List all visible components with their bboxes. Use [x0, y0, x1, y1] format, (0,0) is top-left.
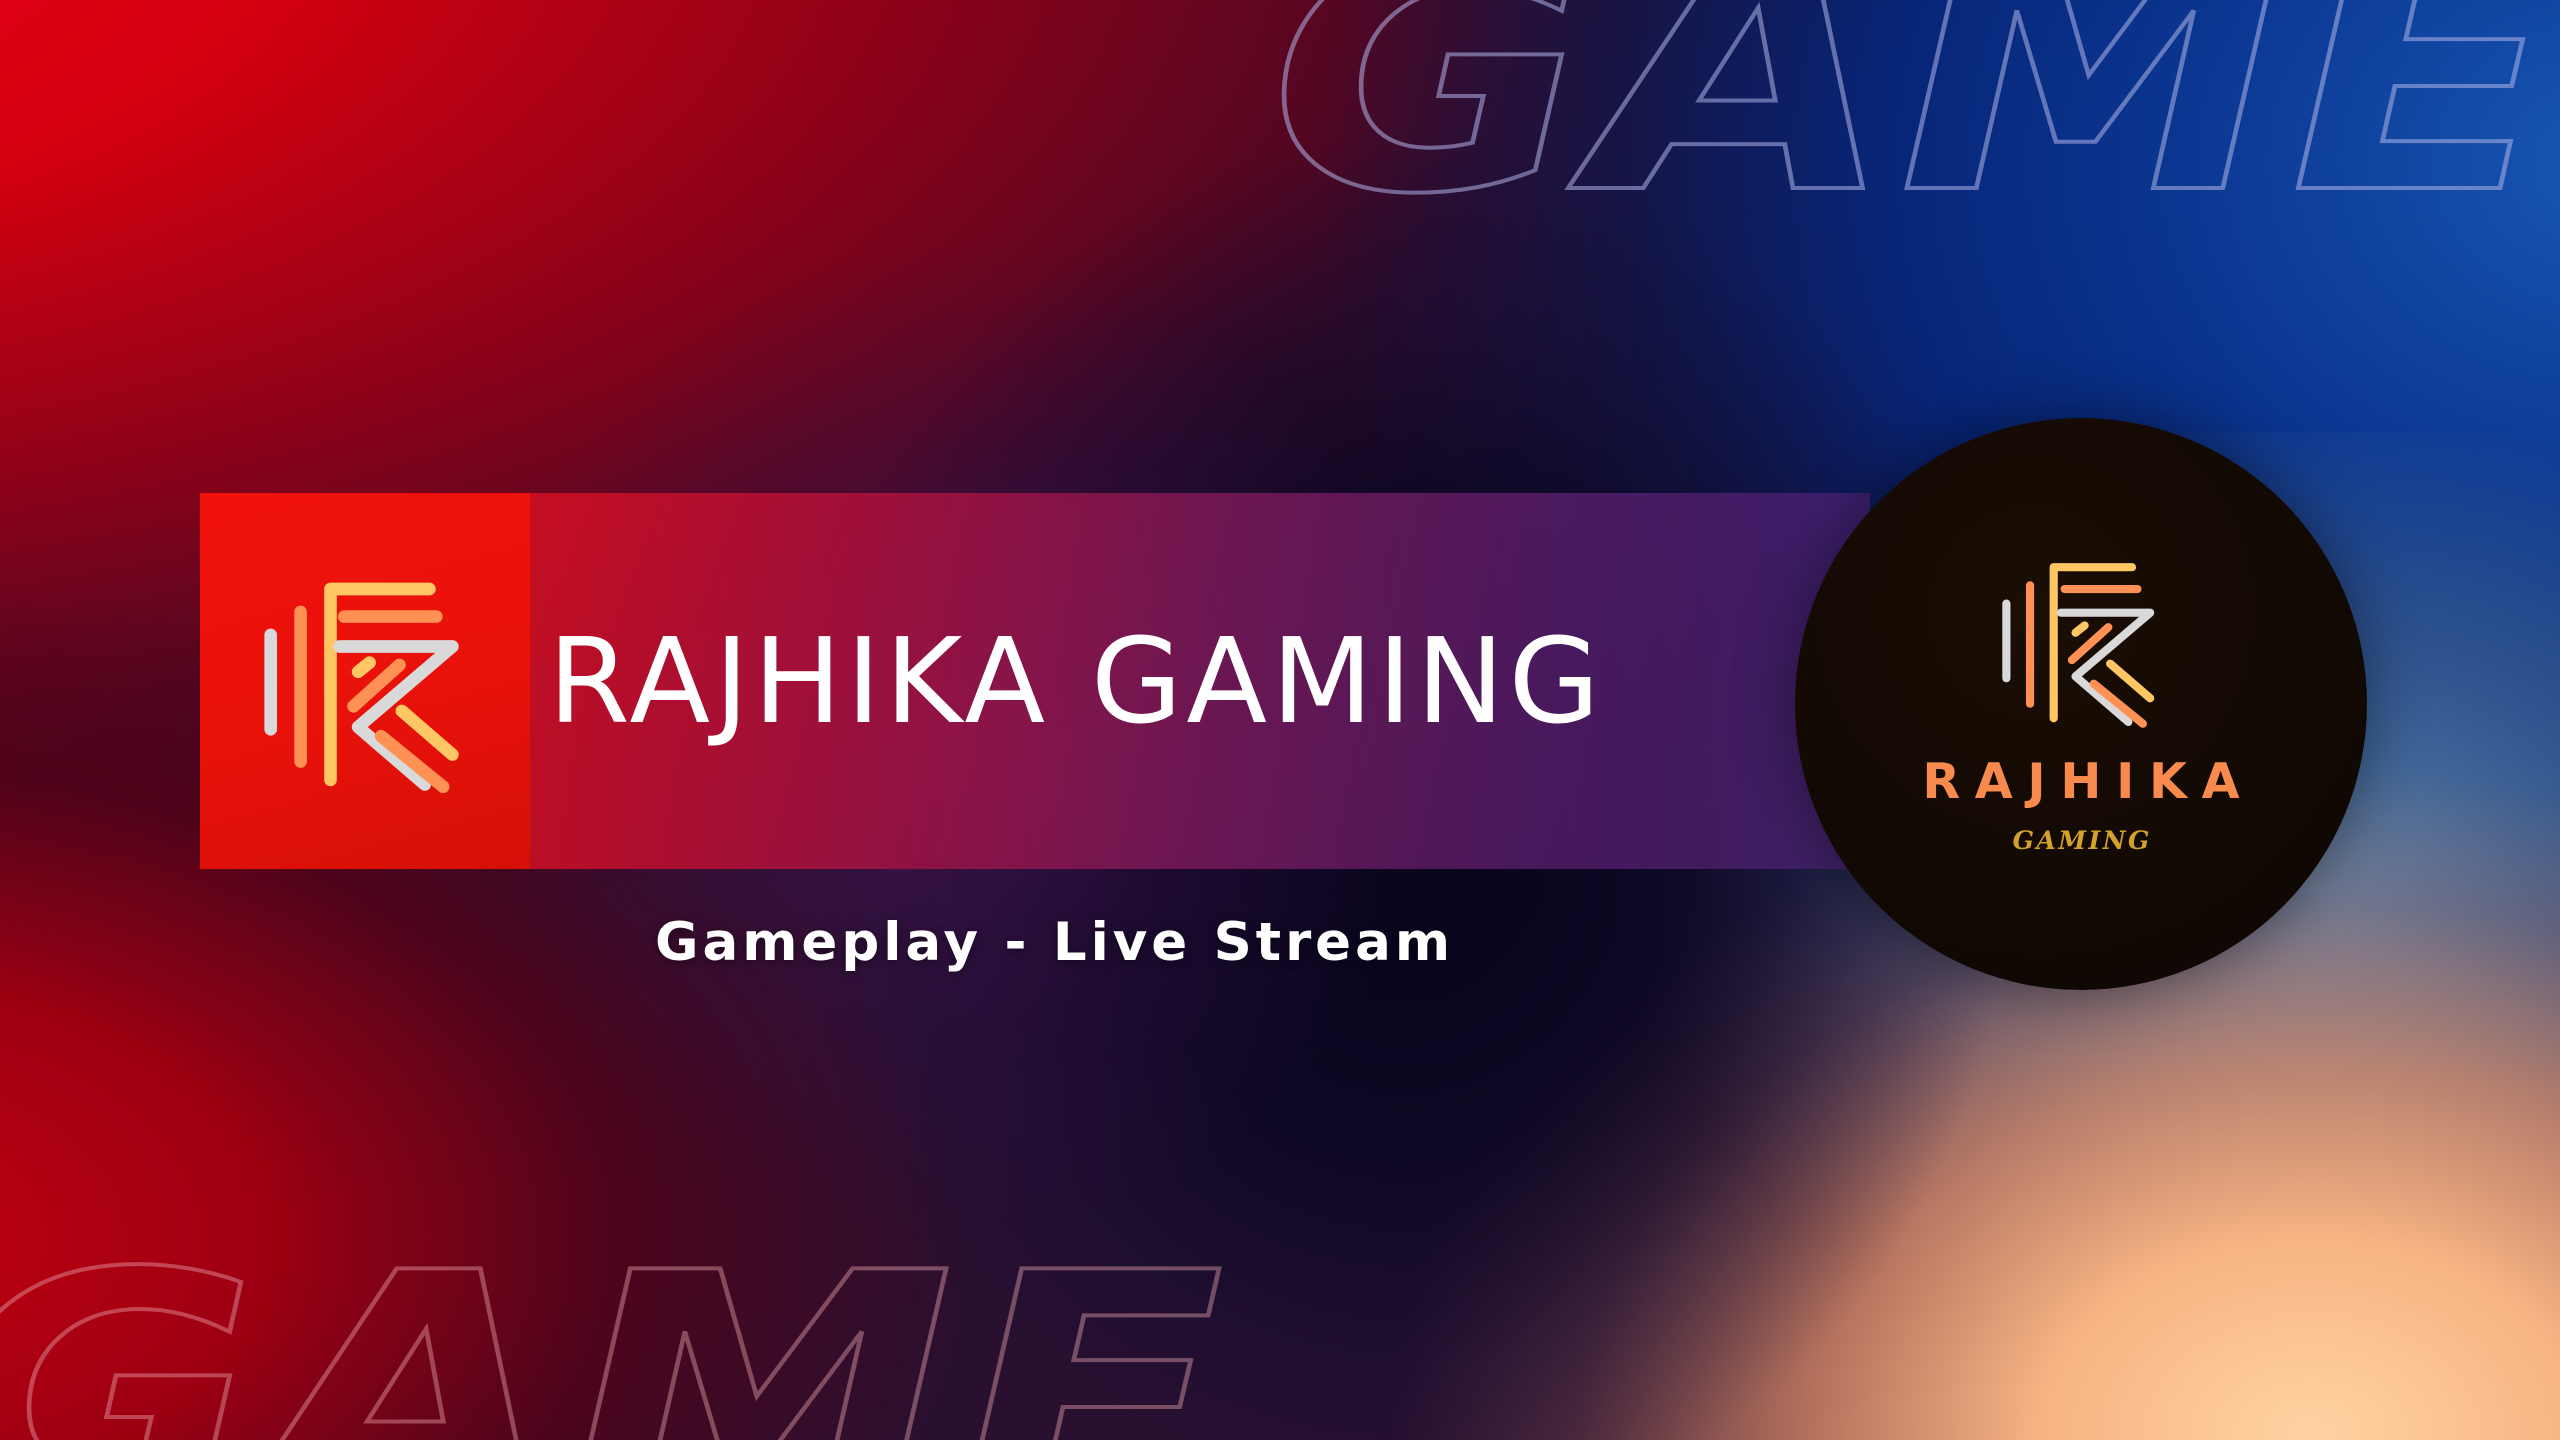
rajhika-r-logo-icon-badge — [1990, 549, 2172, 731]
page-title: RAJHIKA GAMING — [548, 622, 1604, 740]
badge-tagline: GAMING — [2010, 828, 2152, 853]
badge-brand-name: RAJHIKA — [1908, 757, 2255, 806]
game-watermark-bottom-left: GAME — [0, 1247, 1228, 1440]
game-watermark-top-right: GAME — [1270, 0, 2560, 223]
subtitle: Gameplay - Live Stream — [655, 912, 1454, 973]
logo-mark-container — [200, 493, 530, 869]
rajhika-r-logo-icon — [250, 566, 480, 796]
channel-banner: GAME GAME — [0, 0, 2560, 1440]
logo-badge: RAJHIKA GAMING — [1795, 418, 2367, 990]
title-plate: RAJHIKA GAMING — [200, 493, 1870, 869]
